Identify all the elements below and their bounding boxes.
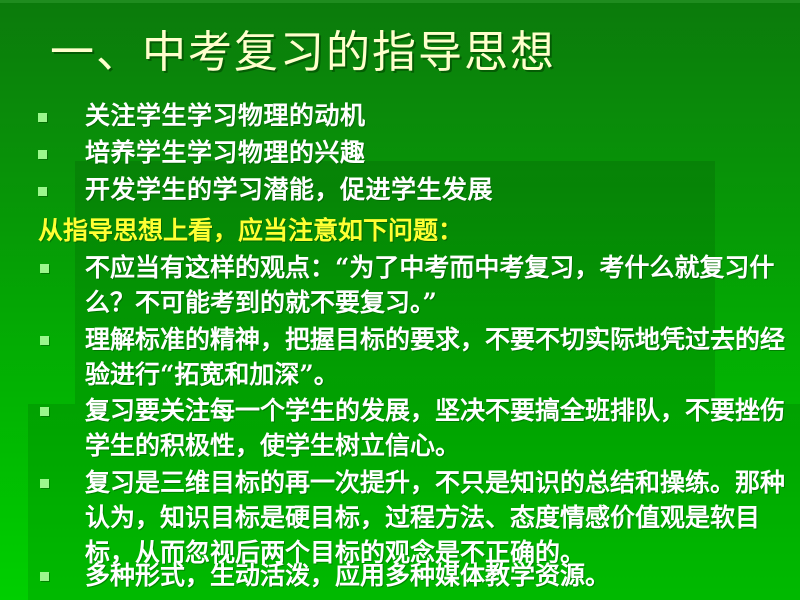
bullet-text-5: 理解标准的精神，把握目标的要求，不要不切实际地凭过去的经验进行“拓宽和加深”。	[85, 322, 785, 392]
bullet-marker-8	[40, 572, 49, 581]
bullet-marker-2	[38, 150, 47, 159]
bullet-marker-7	[40, 479, 49, 488]
section-heading: 从指导思想上看，应当注意如下问题：	[38, 214, 463, 248]
bullet-marker-6	[40, 407, 49, 416]
bullet-marker-1	[38, 113, 47, 122]
bullet-text-1: 关注学生学习物理的动机	[85, 98, 366, 134]
bullet-text-2: 培养学生学习物理的兴趣	[85, 135, 366, 171]
bullet-text-6: 复习要关注每一个学生的发展，坚决不要搞全班排队，不要挫伤学生的积极性，使学生树立…	[85, 393, 785, 463]
presentation-slide: 一、中考复习的指导思想 关注学生学习物理的动机 培养学生学习物理的兴趣 开发学生…	[0, 0, 800, 600]
bullet-text-3: 开发学生的学习潜能，促进学生发展	[85, 172, 493, 208]
bullet-marker-5	[40, 336, 49, 345]
bullet-text-8: 多种形式，生动活泼，应用多种媒体教学资源。	[85, 558, 785, 593]
bullet-text-4: 不应当有这样的观点：“为了中考而中考复习，考什么就复习什么？不可能考到的就不要复…	[85, 250, 785, 320]
bullet-text-7: 复习是三维目标的再一次提升，不只是知识的总结和操练。那种认为，知识目标是硬目标，…	[85, 465, 785, 570]
bullet-marker-4	[40, 264, 49, 273]
slide-title: 一、中考复习的指导思想	[50, 24, 556, 82]
slide-content: 一、中考复习的指导思想 关注学生学习物理的动机 培养学生学习物理的兴趣 开发学生…	[0, 0, 800, 600]
bullet-marker-3	[38, 187, 47, 196]
